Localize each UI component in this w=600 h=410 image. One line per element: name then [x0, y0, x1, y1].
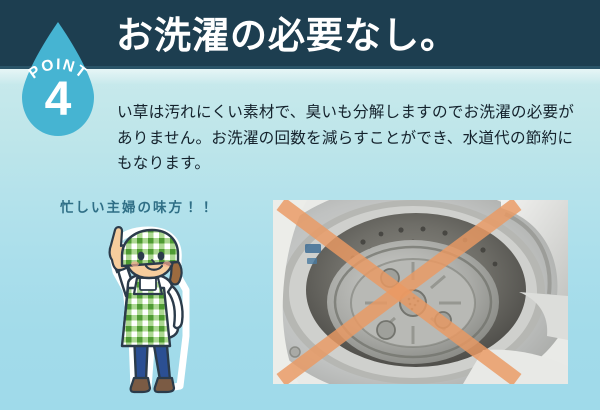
housewife-illustration [82, 216, 210, 404]
catch-copy: 忙しい主婦の味方！！ [60, 196, 215, 216]
point-badge: POINT 4 [16, 21, 100, 138]
washing-machine-photo [273, 200, 568, 384]
point-number: 4 [16, 76, 100, 124]
page-title: お洗濯の必要なし。 [116, 15, 458, 59]
body-paragraph: い草は汚れにくい素材で、臭いも分解しますのでお洗濯の必要がありません。お洗濯の回… [117, 100, 579, 177]
slide-point-4: お洗濯の必要なし。 POINT 4 い草は汚れにくい素材で、臭いも分解しますので… [0, 0, 600, 410]
